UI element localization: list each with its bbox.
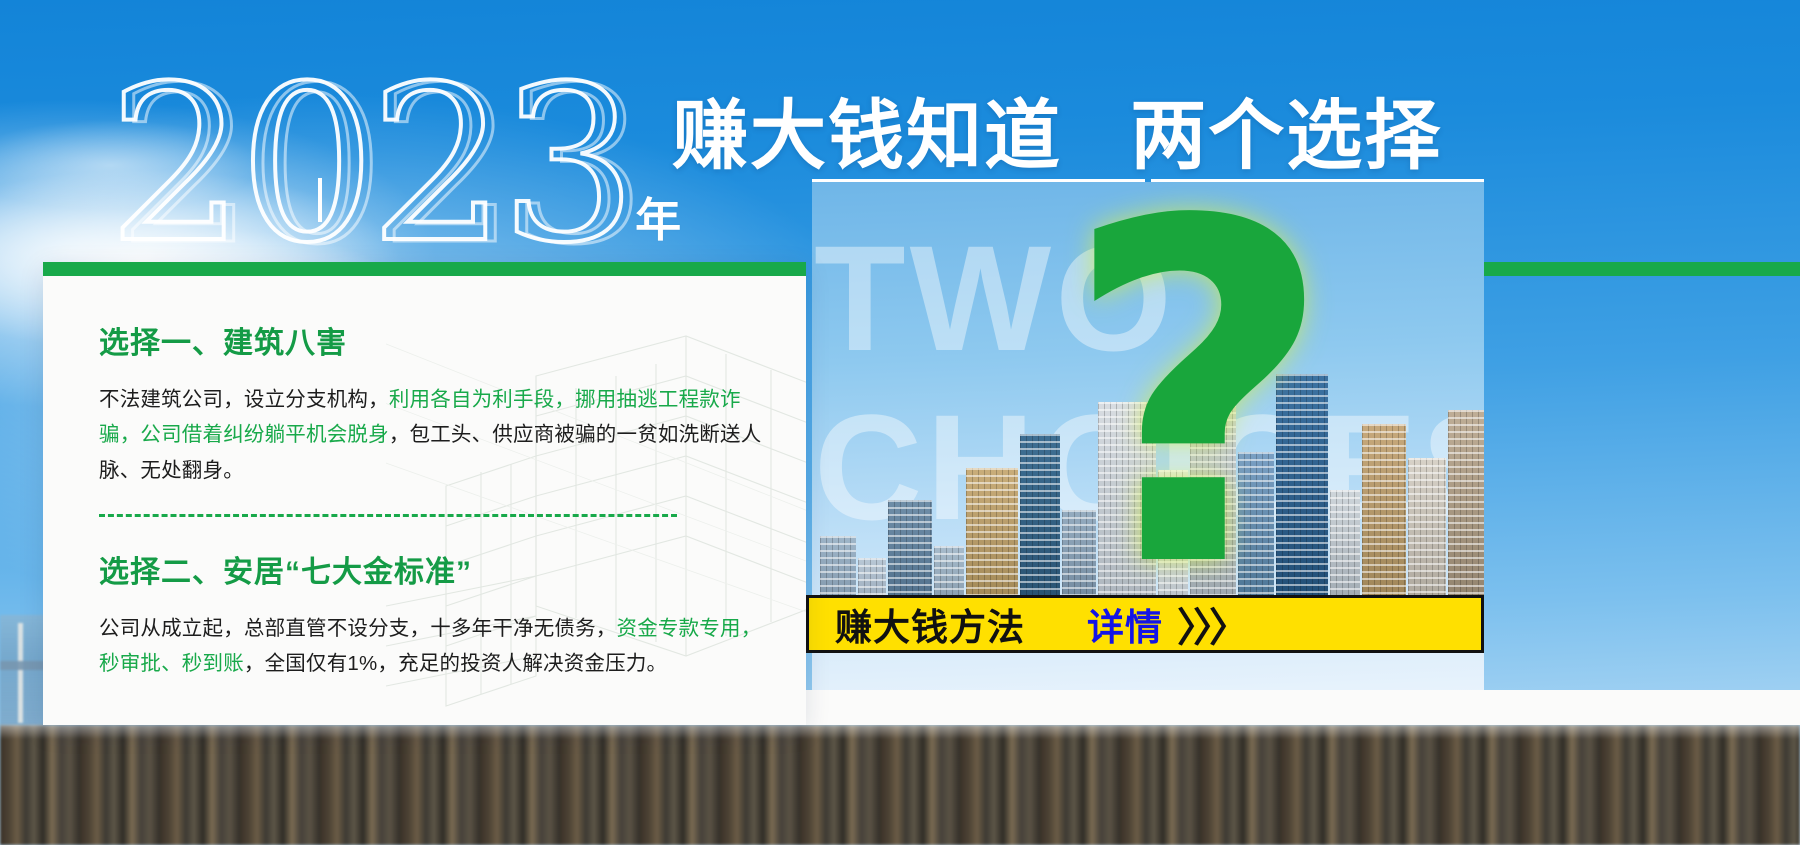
headline-part-1: 赚大钱知道: [672, 94, 1062, 179]
chevron-right-icon: 〉〉〉: [1177, 595, 1245, 653]
headline-part-2: 两个选择: [1130, 94, 1442, 179]
city-skyline: [812, 360, 1484, 620]
cta-detail-link[interactable]: 详情: [1087, 597, 1163, 651]
section-divider: [99, 514, 677, 517]
section-2-text: 公司从成立起，总部直管不设分支，十多年干净无债务，资金专款专用，秒审批、秒到账，…: [99, 611, 762, 682]
section-2-text-plain-2: ，全国仅有1%，充足的投资人解决资金压力。: [244, 652, 667, 675]
card-body: 选择一、建筑八害 不法建筑公司，设立分支机构，利用各自为利手段，挪用抽逃工程款诈…: [43, 262, 806, 681]
bottom-photo-strip: [0, 725, 1800, 845]
building: [1190, 384, 1236, 620]
cta-main-label: 赚大钱方法: [835, 597, 1025, 651]
section-1-text-plain-1: 不法建筑公司，设立分支机构，: [99, 388, 389, 411]
section-2-text-plain-1: 公司从成立起，总部直管不设分支，十多年干净无债务，: [99, 617, 617, 640]
building: [1362, 424, 1406, 620]
content-card: 选择一、建筑八害 不法建筑公司，设立分支机构，利用各自为利手段，挪用抽逃工程款诈…: [43, 262, 806, 725]
building: [1276, 374, 1328, 620]
section-2-title: 选择二、安居“七大金标准”: [99, 547, 762, 591]
edge-green-bar: [1484, 262, 1800, 276]
rule-vertical-tick: [318, 178, 322, 222]
building: [1098, 402, 1156, 620]
poster-canvas: 2023 2023 年 赚大钱知道 两个选择 TWO CHOICES: [0, 0, 1800, 845]
section-1-text: 不法建筑公司，设立分支机构，利用各自为利手段，挪用抽逃工程款诈骗，公司借着纠纷躺…: [99, 382, 762, 488]
page-title: 赚大钱知道 两个选择: [672, 74, 1442, 184]
section-1-title: 选择一、建筑八害: [99, 318, 762, 362]
building: [1020, 434, 1060, 620]
cta-banner[interactable]: 赚大钱方法 详情 〉〉〉: [806, 595, 1484, 653]
building: [1448, 410, 1484, 620]
